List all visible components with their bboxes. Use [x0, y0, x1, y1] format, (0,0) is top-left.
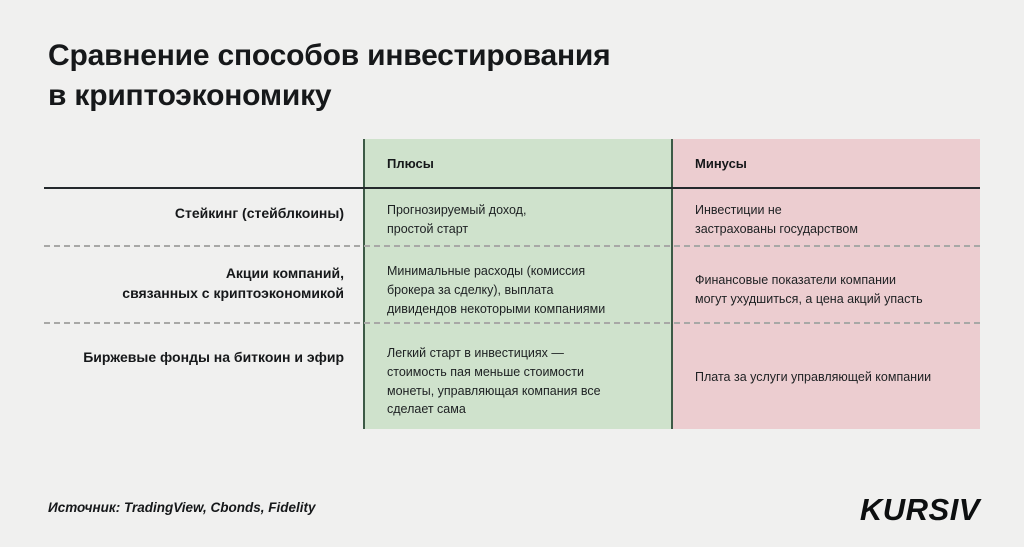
source-note: Источник: TradingView, Cbonds, Fidelity	[48, 500, 316, 515]
row-pros-cell: Легкий старт в инвестициях — стоимость п…	[387, 344, 673, 419]
row-label: Биржевые фонды на биткоин и эфир	[44, 347, 344, 367]
cons-line: Плата за услуги управляющей компании	[695, 368, 985, 387]
row-label-line: Акции компаний,	[44, 263, 344, 283]
cons-line: Инвестиции не	[695, 201, 985, 220]
comparison-table: Плюсы Минусы Стейкинг (стейблкоины) Прог…	[44, 139, 980, 429]
table-row: Стейкинг (стейблкоины) Прогнозируемый до…	[44, 187, 980, 245]
pros-line: монеты, управляющая компания все	[387, 382, 673, 401]
column-header-pros: Плюсы	[387, 139, 434, 187]
cons-line: застрахованы государством	[695, 220, 985, 239]
pros-line: простой старт	[387, 220, 673, 239]
pros-line: Прогнозируемый доход,	[387, 201, 673, 220]
page-title: Сравнение способов инвестирования в крип…	[48, 36, 768, 115]
row-label-line: Биржевые фонды на биткоин и эфир	[44, 347, 344, 367]
row-cons-cell: Инвестиции не застрахованы государством	[695, 201, 985, 239]
row-label: Стейкинг (стейблкоины)	[44, 203, 344, 223]
row-label-line: Стейкинг (стейблкоины)	[44, 203, 344, 223]
cons-line: Финансовые показатели компании	[695, 271, 985, 290]
cons-line: могут ухудшиться, а цена акций упасть	[695, 290, 985, 309]
row-cons-cell: Финансовые показатели компании могут уху…	[695, 271, 985, 309]
pros-line: дивидендов некоторыми компаниями	[387, 300, 673, 319]
pros-line: стоимость пая меньше стоимости	[387, 363, 673, 382]
kursiv-logo: KURSIV	[860, 492, 980, 528]
table-row: Акции компаний, связанных с криптоэконом…	[44, 245, 980, 322]
row-cons-cell: Плата за услуги управляющей компании	[695, 368, 985, 387]
table-header-row: Плюсы Минусы	[44, 139, 980, 187]
row-label: Акции компаний, связанных с криптоэконом…	[44, 263, 344, 304]
row-pros-cell: Прогнозируемый доход, простой старт	[387, 201, 673, 239]
row-pros-cell: Минимальные расходы (комиссия брокера за…	[387, 262, 673, 318]
pros-line: сделает сама	[387, 400, 673, 419]
title-line-2: в криптоэкономику	[48, 76, 768, 116]
column-header-cons: Минусы	[695, 139, 747, 187]
title-line-1: Сравнение способов инвестирования	[48, 36, 768, 76]
pros-line: Легкий старт в инвестициях —	[387, 344, 673, 363]
pros-line: брокера за сделку), выплата	[387, 281, 673, 300]
table-row: Биржевые фонды на биткоин и эфир Легкий …	[44, 322, 980, 429]
pros-line: Минимальные расходы (комиссия	[387, 262, 673, 281]
row-label-line: связанных с криптоэкономикой	[44, 283, 344, 303]
